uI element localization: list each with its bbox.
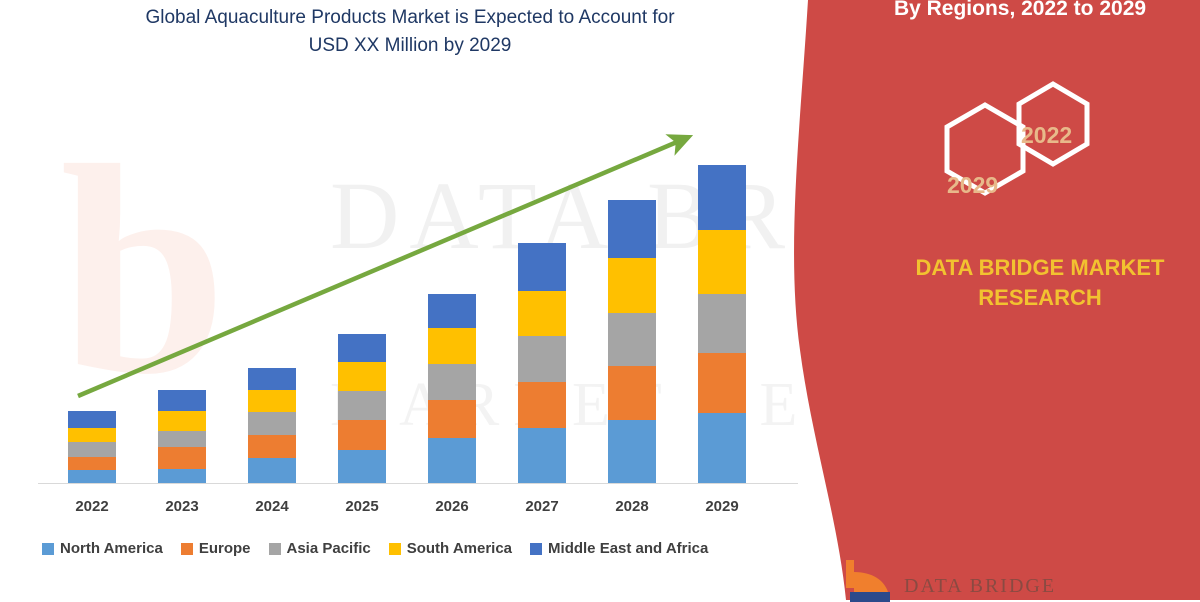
legend-swatch-icon [530,543,542,555]
x-tick-2023: 2023 [137,498,227,515]
bar-segment [518,291,566,336]
bar-segment [248,458,296,483]
legend-item[interactable]: North America [42,540,163,557]
bar-segment [428,294,476,329]
bar-segment [698,230,746,294]
bar-segment [248,390,296,412]
legend-label: South America [407,540,512,557]
legend-label: Asia Pacific [287,540,371,557]
bar-segment [338,362,386,391]
legend-swatch-icon [269,543,281,555]
bar-segment [608,313,656,366]
bridge-logo-icon [840,558,892,602]
bar-segment [428,400,476,438]
x-tick-2022: 2022 [47,498,137,515]
chart-plot-area: 20222023202420252026202720282029 [0,0,840,600]
hexagon-2029-label: 2029 [947,172,998,199]
bar-segment [338,420,386,450]
bar-segment [608,420,656,483]
x-tick-2025: 2025 [317,498,407,515]
bar-stack-2024[interactable] [248,368,296,483]
bar-segment [68,457,116,471]
bar-segment [68,428,116,443]
bar-segment [608,366,656,420]
legend-item[interactable]: Asia Pacific [269,540,371,557]
bar-segment [338,391,386,420]
bar-segment [518,428,566,483]
bar-stack-2022[interactable] [68,411,116,483]
bar-segment [518,243,566,290]
chart-legend: North AmericaEuropeAsia PacificSouth Ame… [42,540,802,557]
bar-segment [338,334,386,362]
x-tick-2024: 2024 [227,498,317,515]
panel-title: By Regions, 2022 to 2029 [860,0,1180,23]
bar-segment [158,469,206,484]
x-axis-baseline [38,483,798,484]
bar-segment [158,447,206,468]
bar-stack-2023[interactable] [158,390,206,483]
x-tick-2029: 2029 [677,498,767,515]
legend-item[interactable]: South America [389,540,512,557]
brand-line-2: RESEARCH [880,283,1200,313]
bar-segment [698,294,746,354]
bar-segment [68,470,116,483]
legend-label: North America [60,540,163,557]
bar-segment [428,438,476,483]
legend-swatch-icon [42,543,54,555]
bar-segment [68,442,116,457]
legend-item[interactable]: Middle East and Africa [530,540,708,557]
bar-segment [428,364,476,400]
bar-stack-2025[interactable] [338,334,386,483]
bar-segment [698,165,746,230]
bar-segment [248,412,296,434]
bar-segment [698,353,746,413]
x-tick-2027: 2027 [497,498,587,515]
brand-name: DATA BRIDGE MARKET RESEARCH [880,253,1200,313]
bar-segment [608,200,656,258]
bar-stack-2026[interactable] [428,294,476,483]
hexagon-outline-icons [915,80,1135,225]
legend-item[interactable]: Europe [181,540,251,557]
bar-segment [428,328,476,364]
bar-segment [518,336,566,381]
bar-segment [158,411,206,430]
bar-segment [338,450,386,483]
footer-logo-text: DATA BRIDGE [904,575,1056,602]
bar-segment [158,390,206,411]
hexagon-2022-label: 2022 [1021,122,1072,149]
brand-line-1: DATA BRIDGE MARKET [880,253,1200,283]
legend-label: Middle East and Africa [548,540,708,557]
legend-label: Europe [199,540,251,557]
hexagon-badges: 2022 2029 [915,80,1135,225]
bar-stack-2028[interactable] [608,200,656,483]
bar-segment [248,435,296,458]
bar-segment [68,411,116,427]
bar-segment [248,368,296,390]
bar-segment [698,413,746,483]
footer-logo: DATA BRIDGE [840,558,1056,602]
bar-segment [518,382,566,428]
legend-swatch-icon [389,543,401,555]
bar-stack-2029[interactable] [698,165,746,483]
legend-swatch-icon [181,543,193,555]
bar-segment [158,431,206,447]
bar-segment [608,258,656,313]
bar-stack-2027[interactable] [518,243,566,483]
x-tick-2026: 2026 [407,498,497,515]
x-tick-2028: 2028 [587,498,677,515]
